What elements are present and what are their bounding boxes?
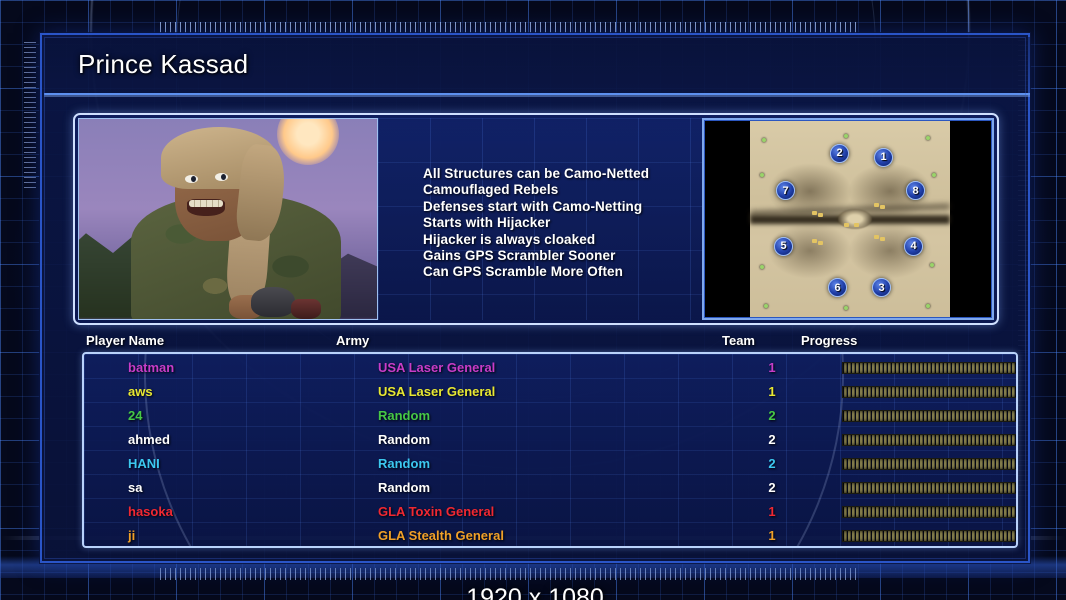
- header-progress: Progress: [801, 333, 857, 348]
- minimap-start-position[interactable]: 3: [872, 278, 891, 297]
- cell-team: 1: [762, 524, 782, 548]
- general-info-panel: All Structures can be Camo-NettedCamoufl…: [73, 113, 999, 325]
- portrait-teapot: [251, 287, 295, 317]
- header-player-name: Player Name: [86, 333, 164, 348]
- general-description-area: All Structures can be Camo-NettedCamoufl…: [378, 118, 702, 320]
- table-row: HANIRandom2: [84, 452, 1016, 476]
- cell-progress-bar: [842, 386, 1018, 398]
- cell-progress-bar: [842, 506, 1018, 518]
- cell-team: 2: [762, 452, 782, 476]
- ruler-tick-bottom: [160, 568, 860, 580]
- ability-line: Gains GPS Scrambler Sooner: [423, 248, 702, 264]
- general-portrait: [78, 118, 378, 320]
- cell-army: GLA Stealth General: [378, 524, 504, 548]
- cell-progress-bar: [842, 410, 1018, 422]
- header-army: Army: [336, 333, 369, 348]
- cell-army: Random: [378, 476, 430, 500]
- minimap-start-position[interactable]: 5: [774, 237, 793, 256]
- minimap-start-position[interactable]: 6: [828, 278, 847, 297]
- table-row: 24Random2: [84, 404, 1016, 428]
- cell-army: GLA Toxin General: [378, 500, 494, 524]
- header-team: Team: [722, 333, 755, 348]
- portrait-soldier-pupil-right: [221, 174, 226, 180]
- cell-team: 1: [762, 380, 782, 404]
- minimap-start-position[interactable]: 1: [874, 148, 893, 167]
- ability-line: Can GPS Scramble More Often: [423, 264, 702, 280]
- ability-line: Defenses start with Camo-Netting: [423, 199, 702, 215]
- cell-army: Random: [378, 452, 430, 476]
- cell-player-name: HANI: [128, 452, 160, 476]
- ruler-tick-left: [24, 42, 36, 192]
- cell-progress-bar: [842, 434, 1018, 446]
- table-row: jiGLA Stealth General1: [84, 524, 1016, 548]
- cell-progress-bar: [842, 482, 1018, 494]
- cell-progress-bar: [842, 530, 1018, 542]
- player-rows: batmanUSA Laser General1awsUSA Laser Gen…: [84, 354, 1016, 548]
- ability-line: Camouflaged Rebels: [423, 182, 702, 198]
- cell-player-name: hasoka: [128, 500, 173, 524]
- cell-player-name: ahmed: [128, 428, 170, 452]
- resolution-label: 1920 x 1080: [42, 584, 1028, 600]
- title-bar: Prince Kassad: [44, 37, 1030, 95]
- minimap-image: 12345678: [750, 120, 950, 318]
- minimap-start-position[interactable]: 2: [830, 144, 849, 163]
- portrait-soldier-pupil-left: [191, 176, 196, 182]
- portrait-soldier-teeth: [189, 200, 223, 207]
- ability-line: All Structures can be Camo-Netted: [423, 166, 702, 182]
- cell-team: 1: [762, 356, 782, 380]
- ability-line: Hijacker is always cloaked: [423, 232, 702, 248]
- table-row: ahmedRandom2: [84, 428, 1016, 452]
- cell-team: 1: [762, 500, 782, 524]
- cell-player-name: batman: [128, 356, 174, 380]
- table-row: awsUSA Laser General1: [84, 380, 1016, 404]
- cell-progress-bar: [842, 362, 1018, 374]
- loading-screen-window: Prince Kassad All Struct: [40, 33, 1030, 563]
- cell-player-name: ji: [128, 524, 135, 548]
- ability-line: Starts with Hijacker: [423, 215, 702, 231]
- minimap-start-position[interactable]: 4: [904, 237, 923, 256]
- minimap-frame: 12345678: [702, 118, 994, 320]
- general-ability-list: All Structures can be Camo-NettedCamoufl…: [378, 118, 702, 281]
- player-table: batmanUSA Laser General1awsUSA Laser Gen…: [82, 352, 1018, 548]
- table-row: hasokaGLA Toxin General1: [84, 500, 1016, 524]
- cell-progress-bar: [842, 458, 1018, 470]
- cell-team: 2: [762, 404, 782, 428]
- page-title: Prince Kassad: [78, 49, 248, 80]
- table-row: saRandom2: [84, 476, 1016, 500]
- cell-army: Random: [378, 404, 430, 428]
- cell-team: 2: [762, 476, 782, 500]
- cell-team: 2: [762, 428, 782, 452]
- minimap-start-position[interactable]: 7: [776, 181, 795, 200]
- cell-player-name: 24: [128, 404, 142, 428]
- minimap-start-position[interactable]: 8: [906, 181, 925, 200]
- table-row: batmanUSA Laser General1: [84, 356, 1016, 380]
- portrait-teacup: [291, 299, 321, 319]
- cell-army: Random: [378, 428, 430, 452]
- cell-army: USA Laser General: [378, 356, 495, 380]
- cell-player-name: aws: [128, 380, 153, 404]
- cell-player-name: sa: [128, 476, 142, 500]
- cell-army: USA Laser General: [378, 380, 495, 404]
